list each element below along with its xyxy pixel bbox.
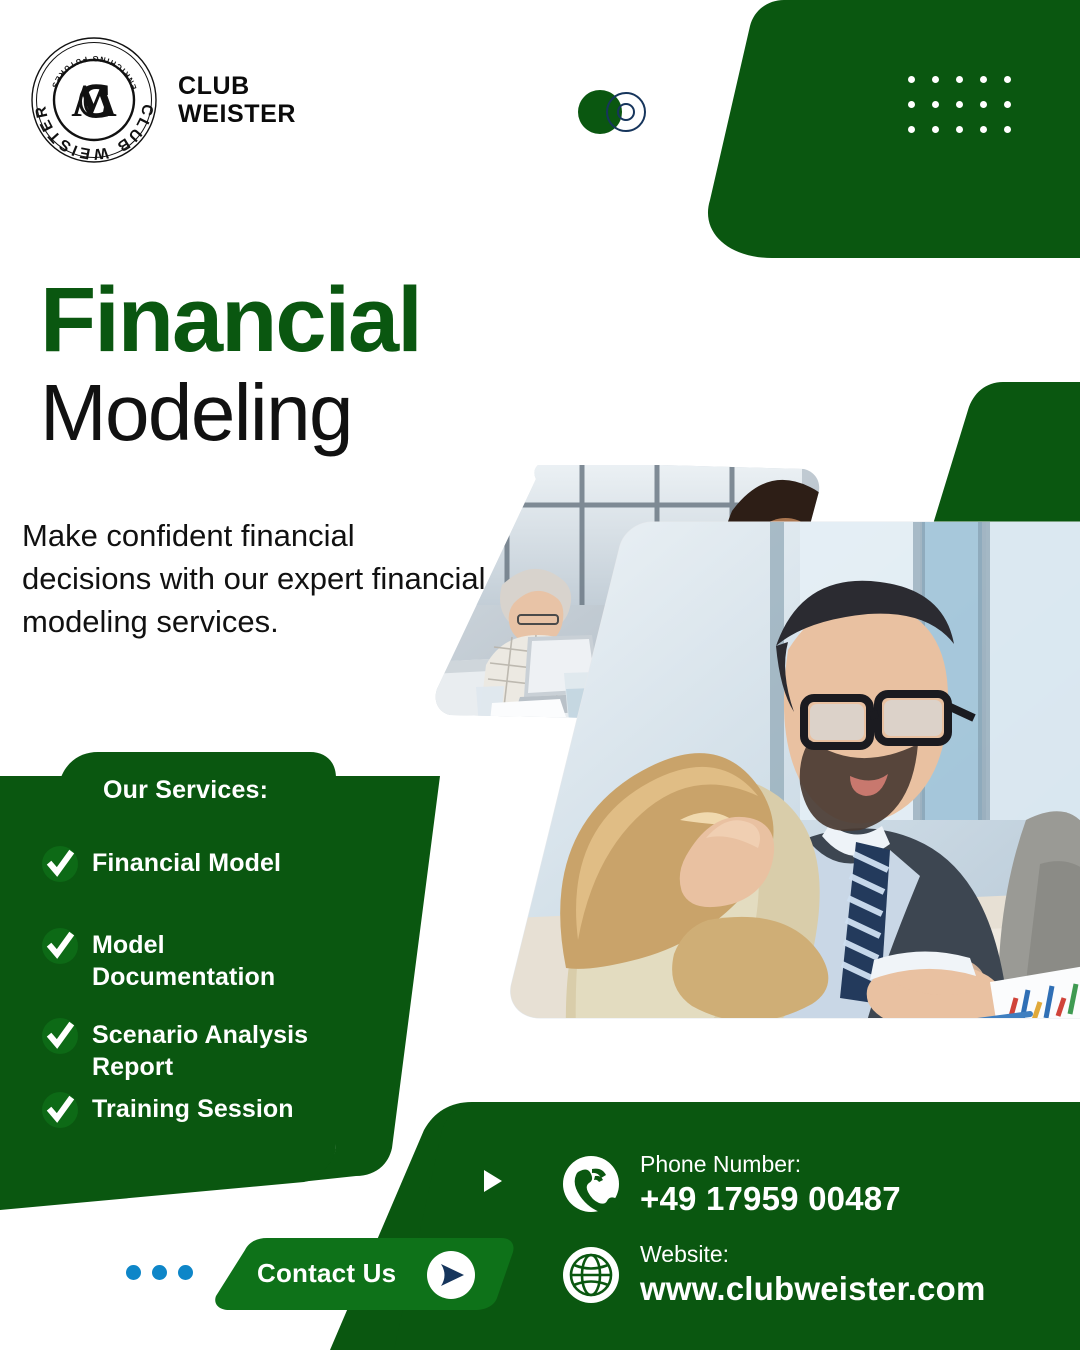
headline-line-2: Modeling	[40, 370, 600, 456]
website-value: www.clubweister.com	[640, 1269, 986, 1309]
list-item[interactable]: Training Session	[42, 1092, 294, 1128]
brand-name-line1: CLUB	[178, 72, 296, 100]
logo-badge-icon: CLUB WEISTER ENRICHING FUTURES W C	[30, 36, 158, 164]
globe-icon	[562, 1246, 620, 1304]
svg-text:C: C	[79, 75, 110, 126]
list-item[interactable]: Model Documentation	[42, 928, 275, 993]
brand-logo: CLUB WEISTER ENRICHING FUTURES W C CLUB …	[30, 36, 296, 164]
poster-canvas: CLUB WEISTER ENRICHING FUTURES W C CLUB …	[0, 0, 1080, 1350]
contact-us-label: Contact Us	[257, 1258, 396, 1289]
check-icon	[42, 846, 78, 882]
brand-name-line2: WEISTER	[178, 100, 296, 128]
play-triangle-icon	[482, 1168, 504, 1194]
headline-line-1: Financial	[40, 274, 600, 368]
subheading-copy: Make confident financial decisions with …	[22, 515, 492, 643]
photo-advisor-client-discussion	[470, 520, 1080, 1032]
brand-name: CLUB WEISTER	[178, 72, 296, 128]
list-item-label: Financial Model	[92, 846, 281, 880]
check-icon	[42, 928, 78, 964]
arrow-right-icon[interactable]	[427, 1251, 475, 1299]
services-title: Our Services:	[103, 776, 268, 805]
phone-value: +49 17959 00487	[640, 1179, 901, 1219]
contact-us-button[interactable]: Contact Us	[215, 1238, 515, 1310]
contact-row-phone[interactable]: Phone Number: +49 17959 00487	[562, 1150, 1062, 1218]
list-item-label: Training Session	[92, 1092, 294, 1126]
check-icon	[42, 1092, 78, 1128]
website-label: Website:	[640, 1241, 729, 1267]
dot-grid-decoration	[908, 76, 1012, 138]
list-item-label: Model Documentation	[92, 928, 275, 993]
mid-green-accent-shape	[890, 382, 1080, 534]
overlapping-circles-icon	[578, 90, 650, 138]
page-title: Financial Modeling	[40, 274, 600, 456]
phone-icon	[562, 1155, 620, 1213]
contact-details: Phone Number: +49 17959 00487	[562, 1150, 1062, 1331]
contact-row-website[interactable]: Website: www.clubweister.com	[562, 1240, 1062, 1308]
list-item[interactable]: Scenario Analysis Report	[42, 1018, 308, 1083]
blue-dots-decoration	[126, 1265, 206, 1281]
list-item-label: Scenario Analysis Report	[92, 1018, 308, 1083]
phone-label: Phone Number:	[640, 1151, 801, 1177]
header-green-shape	[680, 0, 1080, 258]
check-icon	[42, 1018, 78, 1054]
list-item[interactable]: Financial Model	[42, 846, 281, 882]
